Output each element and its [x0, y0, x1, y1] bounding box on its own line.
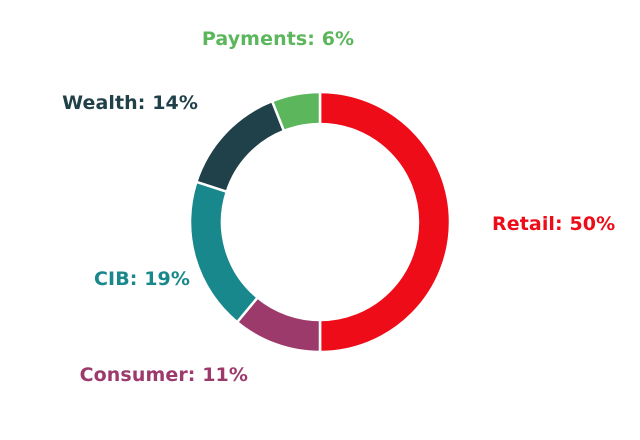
slice-label-retail: Retail: 50% [492, 215, 615, 234]
slice-label-cib: CIB: 19% [94, 270, 190, 289]
slice-label-consumer: Consumer: 11% [80, 366, 248, 385]
slice-label-wealth: Wealth: 14% [62, 94, 198, 113]
donut-slices-group [190, 92, 450, 352]
donut-slice-wealth [196, 101, 284, 192]
donut-slice-retail [320, 92, 450, 352]
donut-slice-cib [190, 182, 258, 322]
donut-chart-canvas: Payments: 6% Wealth: 14% CIB: 19% Consum… [0, 0, 640, 440]
slice-label-payments: Payments: 6% [202, 30, 354, 49]
